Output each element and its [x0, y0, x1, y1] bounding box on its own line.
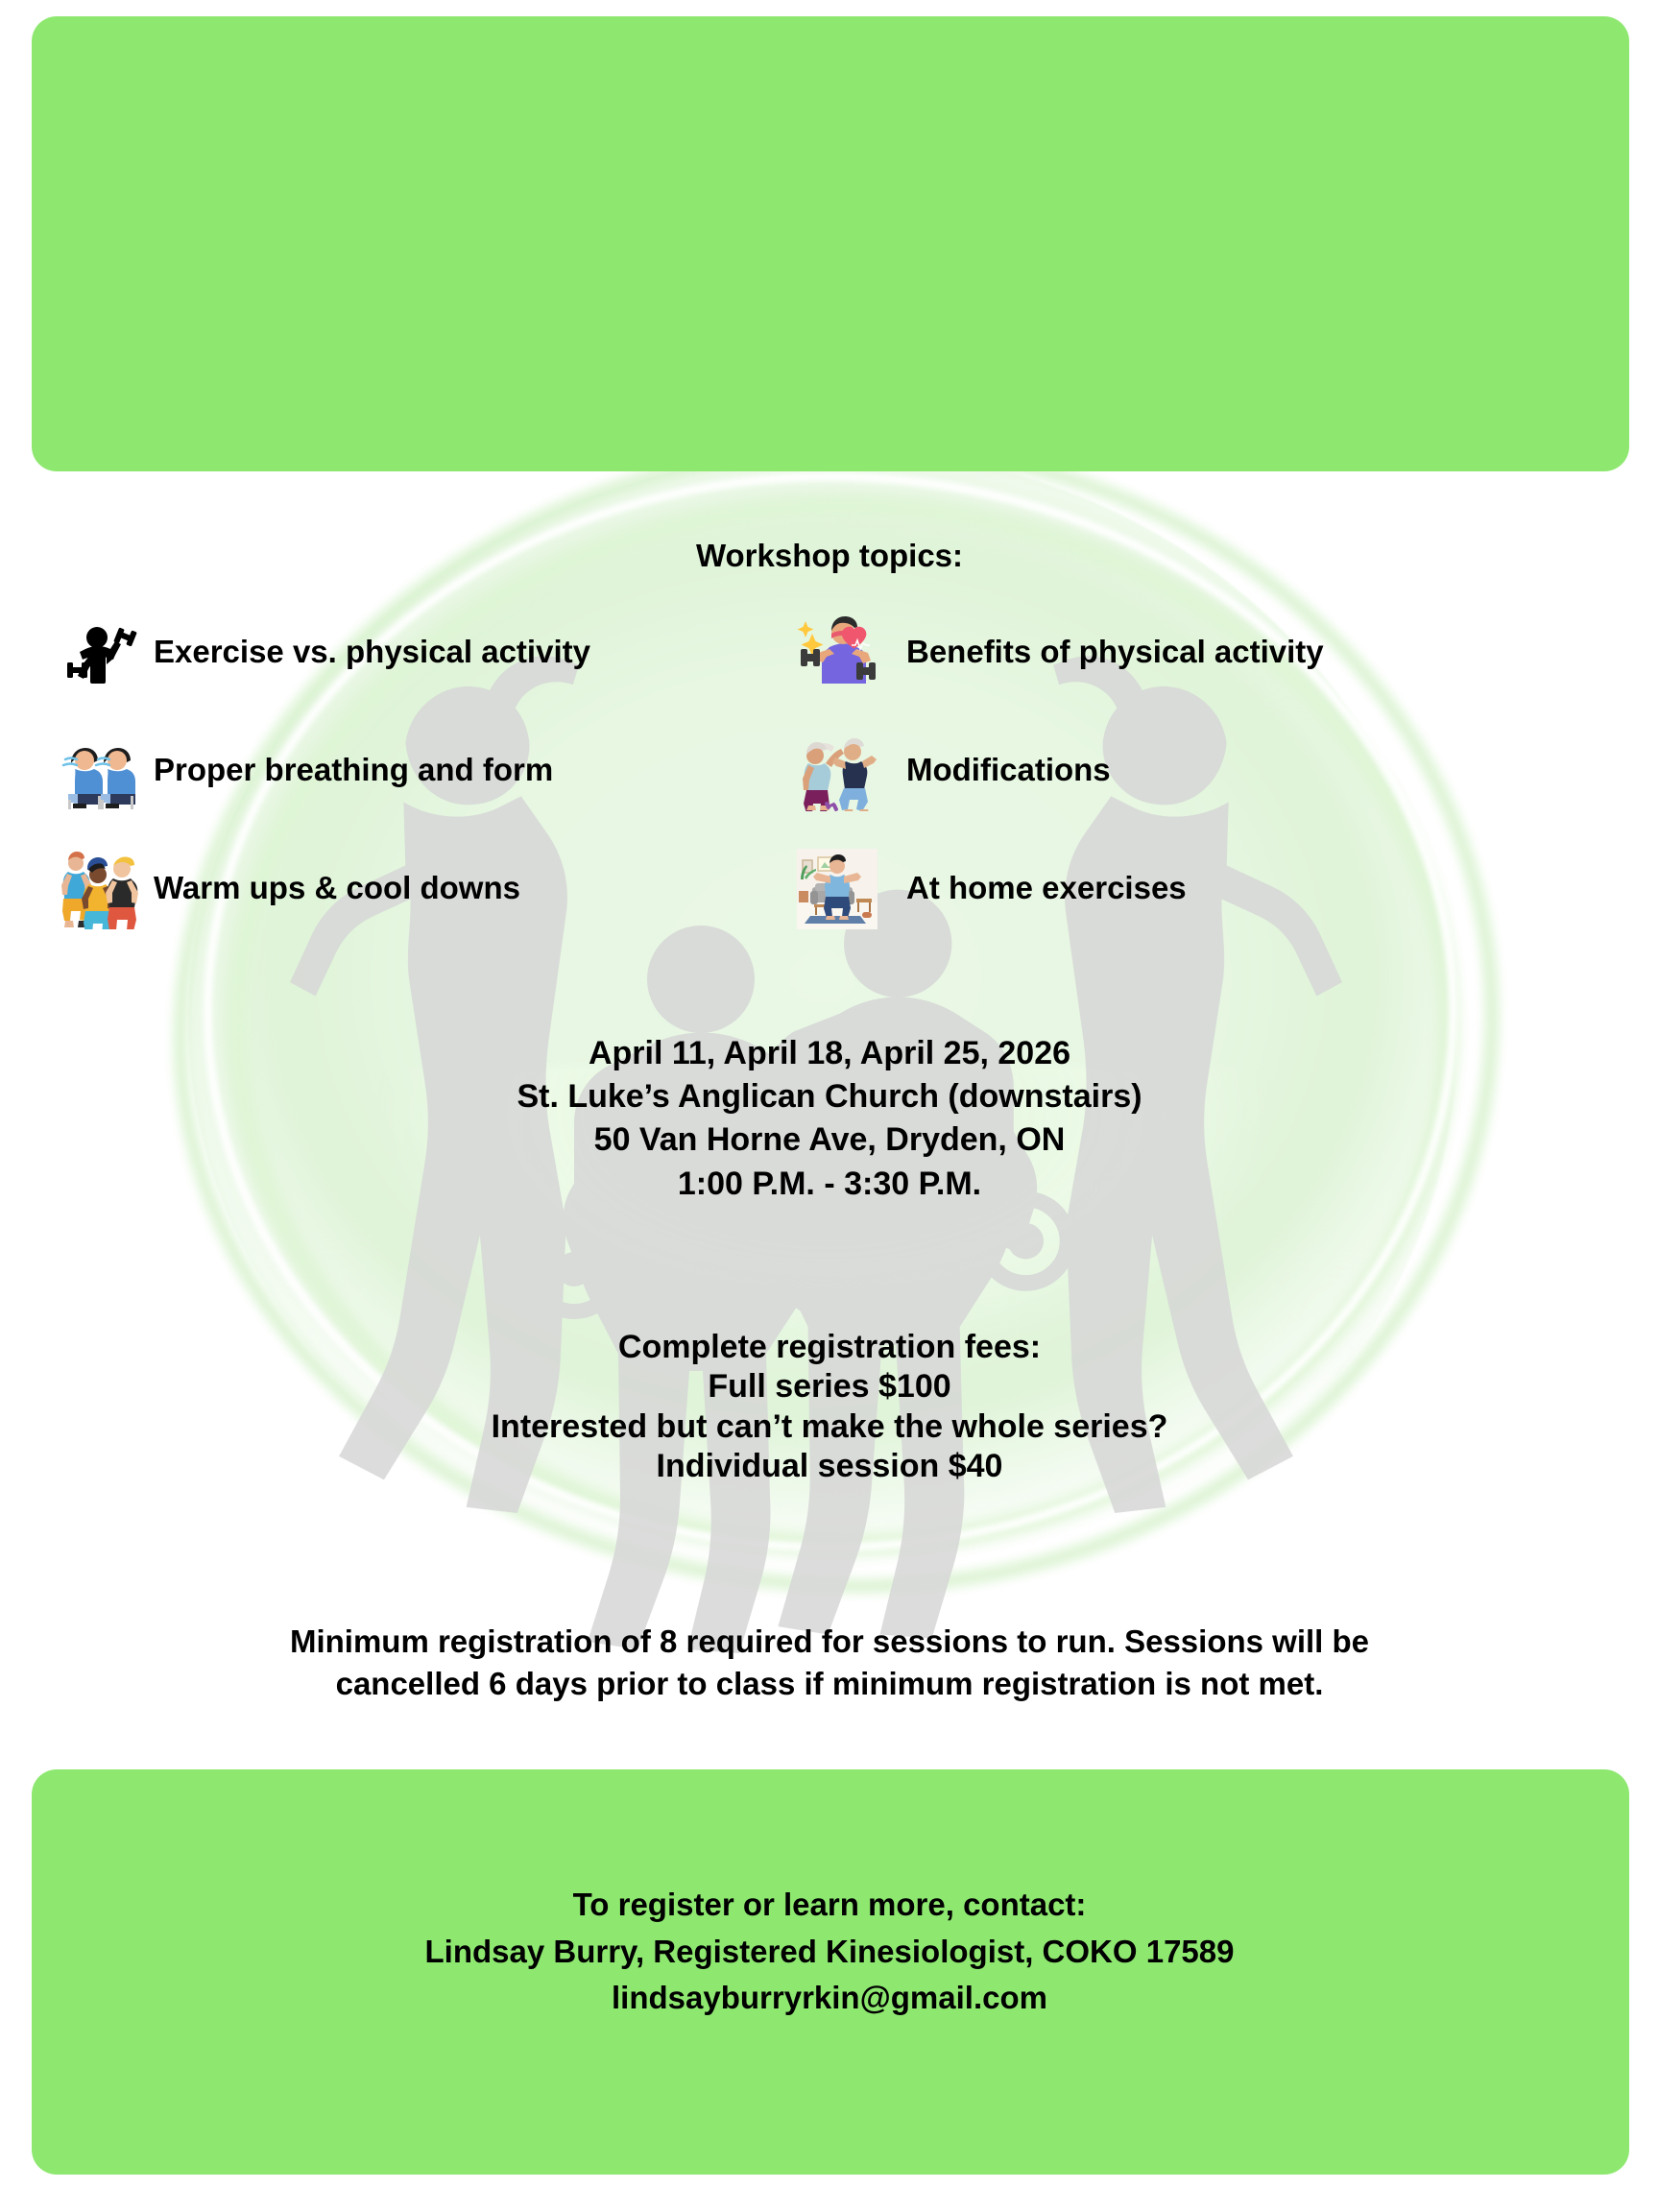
- event-details: April 11, April 18, April 25, 2026 St. L…: [0, 1032, 1659, 1206]
- person-exercising-at-home-icon: [797, 849, 878, 929]
- contact-call-to-action: To register or learn more, contact:: [0, 1882, 1659, 1929]
- registration-fees: Complete registration fees: Full series …: [0, 1328, 1659, 1487]
- fees-full-series: Full series $100: [0, 1367, 1659, 1407]
- topic-label: Modifications: [906, 753, 1111, 787]
- fees-heading: Complete registration fees:: [0, 1328, 1659, 1367]
- event-address: 50 Van Horne Ave, Dryden, ON: [0, 1118, 1659, 1162]
- event-venue: St. Luke’s Anglican Church (downstairs): [0, 1075, 1659, 1118]
- topic-label: At home exercises: [906, 871, 1187, 905]
- topic-label: Warm ups & cool downs: [154, 871, 520, 905]
- minimum-registration-notice: Minimum registration of 8 required for s…: [77, 1621, 1582, 1704]
- topic-item-at-home-exercises: At home exercises: [789, 829, 1615, 948]
- fees-individual-session: Individual session $40: [0, 1447, 1659, 1486]
- workshop-topics-heading: Workshop topics:: [0, 538, 1659, 574]
- topic-label: Proper breathing and form: [154, 753, 553, 787]
- people-stretching-icon: [797, 731, 878, 811]
- topic-label: Benefits of physical activity: [906, 635, 1324, 669]
- topic-label: Exercise vs. physical activity: [154, 635, 590, 669]
- notice-line-1: Minimum registration of 8 required for s…: [77, 1621, 1582, 1663]
- contact-info: To register or learn more, contact: Lind…: [0, 1882, 1659, 2022]
- notice-line-2: cancelled 6 days prior to class if minim…: [77, 1663, 1582, 1705]
- contact-email[interactable]: lindsayburryrkin@gmail.com: [0, 1975, 1659, 2022]
- topic-item-modifications: Modifications: [789, 711, 1615, 829]
- weightlifter-pictogram-icon: [60, 613, 140, 693]
- topic-item-exercise-vs-physical-activity: Exercise vs. physical activity: [60, 593, 789, 711]
- workshop-topics-grid: Exercise vs. physical activity: [60, 593, 1615, 948]
- topic-item-proper-breathing-and-form: Proper breathing and form: [60, 711, 789, 829]
- fees-question: Interested but can’t make the whole seri…: [0, 1407, 1659, 1447]
- topic-item-benefits-of-physical-activity: Benefits of physical activity: [789, 593, 1615, 711]
- people-running-group-icon: [60, 849, 140, 929]
- people-seated-breathing-icon: [60, 731, 140, 811]
- event-dates: April 11, April 18, April 25, 2026: [0, 1032, 1659, 1075]
- person-lifting-weights-heart-icon: [797, 613, 878, 693]
- topic-item-warm-ups-and-cool-downs: Warm ups & cool downs: [60, 829, 789, 948]
- header-panel: [32, 16, 1629, 471]
- event-time: 1:00 P.M. - 3:30 P.M.: [0, 1163, 1659, 1206]
- contact-name-credentials: Lindsay Burry, Registered Kinesiologist,…: [0, 1929, 1659, 1976]
